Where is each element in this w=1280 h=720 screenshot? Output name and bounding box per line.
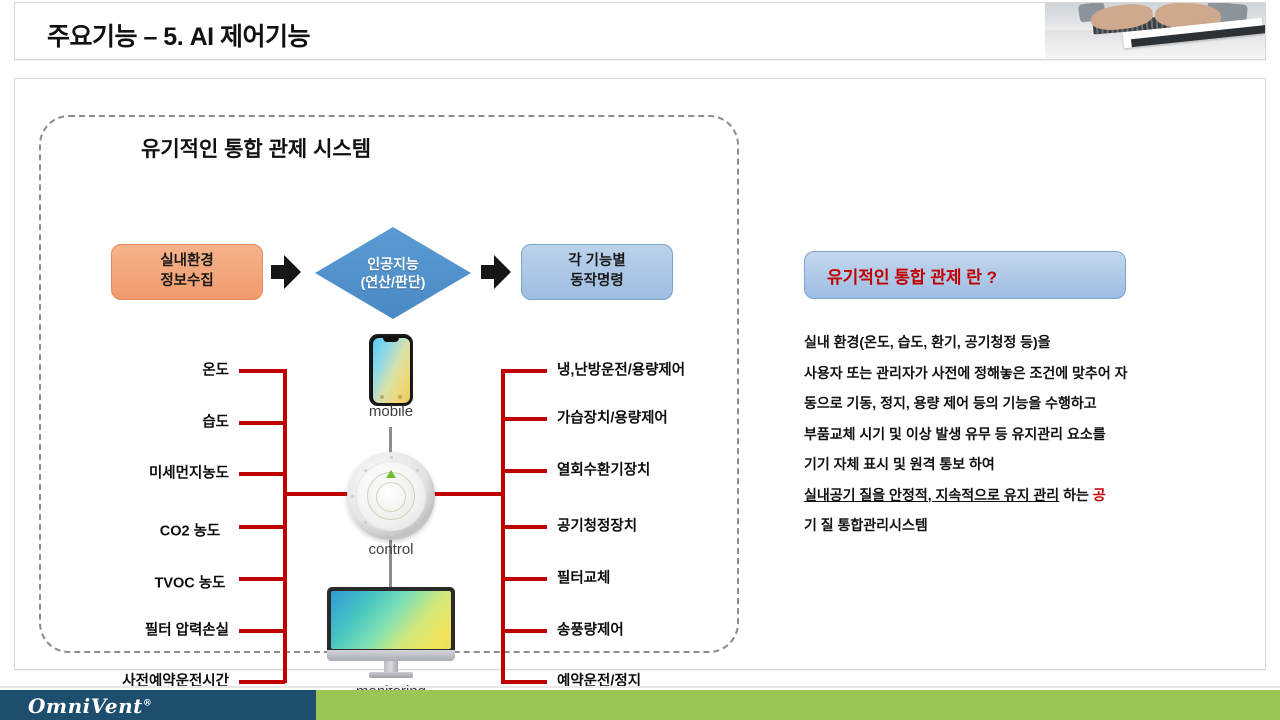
mobile-device-icon: [369, 334, 413, 406]
hands-typing-photo: [1045, 3, 1265, 60]
registered-mark-icon: ®: [143, 698, 153, 708]
input-label-7: 사전예약운전시간: [122, 673, 229, 690]
body-line-1: 실내 환경(온도, 습도, 환기, 공기청정 등)을: [804, 334, 1204, 352]
right-panel-body: 실내 환경(온도, 습도, 환기, 공기청정 등)을 사용자 또는 관리자가 사…: [804, 334, 1204, 548]
output-label-5: 필터교체: [557, 570, 610, 587]
input-label-6: 필터 압력손실: [145, 622, 229, 639]
input-label-5: TVOC 농도: [151, 575, 229, 592]
body-line-6-mid: 하는: [1059, 487, 1093, 503]
content-panel: 유기적인 통합 관제 시스템 실내환경 정보수집 인공지능 (연산/판단): [14, 78, 1266, 670]
body-line-2: 사용자 또는 관리자가 사전에 정해놓은 조건에 맞추어 자: [804, 365, 1204, 383]
output-stub-4: [501, 525, 547, 529]
output-label-1: 냉,난방운전/용량제어: [557, 362, 685, 379]
footer-divider: [0, 686, 1280, 688]
input-stub-3: [239, 472, 285, 476]
page-title: 주요기능 – 5. AI 제어기능: [47, 17, 310, 53]
output-label-3: 열회수환기장치: [557, 462, 650, 479]
hub-feed-left: [283, 492, 351, 496]
body-line-6-red: 공: [1093, 487, 1106, 503]
control-knob-icon: [347, 452, 435, 540]
body-line-7: 기 질 통합관리시스템: [804, 517, 1204, 535]
monitoring-device-icon: [327, 587, 455, 679]
output-stub-2: [501, 417, 547, 421]
mobile-caption: mobile: [369, 403, 413, 420]
brand-logo: OmniVent®: [28, 694, 152, 718]
input-label-4: CO2 농도: [151, 523, 229, 540]
input-stub-7: [239, 680, 285, 684]
input-stub-5: [239, 577, 285, 581]
footer-green-band: [316, 690, 1280, 720]
brand-logo-text: OmniVent: [28, 694, 143, 718]
input-stub-6: [239, 629, 285, 633]
hub-feed-right: [433, 492, 505, 496]
right-panel-heading: 유기적인 통합 관제 란 ?: [804, 251, 1126, 299]
slide-root: 주요기능 – 5. AI 제어기능 유기적인 통합 관제 시스템 실내환경 정보…: [0, 0, 1280, 720]
output-label-6: 송풍량제어: [557, 622, 624, 639]
body-line-4: 부품교체 시기 및 이상 발생 유무 등 유지관리 요소를: [804, 426, 1204, 444]
input-label-2: 습도: [202, 414, 229, 431]
output-stub-7: [501, 680, 547, 684]
body-line-6-underlined: 실내공기 질을 안정적, 지속적으로 유지 관리: [804, 487, 1059, 503]
input-label-3: 미세먼지농도: [149, 465, 229, 482]
control-hub: 온도 습도 미세먼지농도 CO2 농도 TVOC 농도 필터 압력손실 사전예약…: [15, 79, 739, 617]
output-label-4: 공기청정장치: [557, 518, 637, 535]
header-panel: 주요기능 – 5. AI 제어기능: [14, 2, 1266, 60]
input-label-1: 온도: [202, 362, 229, 379]
device-connector-top: [389, 427, 392, 453]
output-label-2: 가습장치/용량제어: [557, 410, 668, 427]
input-stub-1: [239, 369, 285, 373]
body-line-6: 실내공기 질을 안정적, 지속적으로 유지 관리 하는 공: [804, 487, 1204, 505]
output-stub-3: [501, 469, 547, 473]
output-label-7: 예약운전/정지: [557, 673, 641, 690]
body-line-5: 기기 자체 표시 및 원격 통보 하여: [804, 456, 1204, 474]
input-stub-4: [239, 525, 285, 529]
output-stub-1: [501, 369, 547, 373]
output-stub-5: [501, 577, 547, 581]
body-line-3: 동으로 기동, 정지, 용량 제어 등의 기능을 수행하고: [804, 395, 1204, 413]
output-stub-6: [501, 629, 547, 633]
control-caption: control: [368, 541, 413, 558]
input-stub-2: [239, 421, 285, 425]
